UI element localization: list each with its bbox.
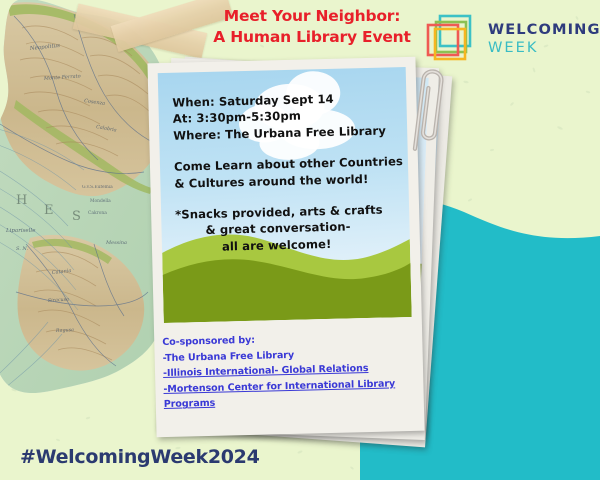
logo-word-week: WEEK (488, 41, 600, 56)
svg-text:Lipariselle: Lipariselle (5, 228, 36, 234)
sponsor-item[interactable]: -Mortenson Center for International Libr… (163, 375, 426, 413)
photo-area: When: Saturday Sept 14 At: 3:30pm-5:30pm… (158, 67, 412, 323)
headline-line-1: Meet Your Neighbor: (196, 6, 428, 27)
svg-text:G.v.S.Eufemia: G.v.S.Eufemia (82, 185, 113, 190)
photo-caption-text: When: Saturday Sept 14 At: 3:30pm-5:30pm… (172, 89, 408, 256)
svg-text:E: E (44, 203, 58, 218)
svg-text:Mondella: Mondella (90, 199, 111, 204)
svg-text:S: S (72, 209, 85, 224)
headline: Meet Your Neighbor: A Human Library Even… (196, 6, 428, 48)
hashtag: #WelcomingWeek2024 (20, 446, 260, 468)
sponsors-block: Co-sponsored by: -The Urbana Free Librar… (162, 329, 426, 413)
svg-text:Cakrona: Cakrona (88, 211, 107, 216)
headline-line-2: A Human Library Event (196, 27, 428, 48)
event-extras-block: *Snacks provided, arts & crafts & great … (175, 201, 408, 256)
welcoming-week-logo: WELCOMING WEEK (424, 10, 594, 66)
poster-canvas: Neapolitus Monte Ferrato Cosenza Calabri… (0, 0, 600, 480)
event-invite-block: Come Learn about other Countries & Cultu… (174, 153, 407, 191)
svg-text:Ragusa: Ragusa (55, 327, 74, 334)
svg-text:H: H (16, 193, 31, 208)
welcoming-week-wordmark: WELCOMING WEEK (488, 21, 600, 55)
svg-text:C: C (0, 181, 4, 196)
welcoming-week-squares-icon (424, 13, 482, 63)
polaroid-card-front: When: Saturday Sept 14 At: 3:30pm-5:30pm… (147, 57, 424, 437)
logo-word-welcoming: WELCOMING (488, 23, 600, 38)
svg-text:S. N.: S. N. (16, 246, 28, 252)
svg-text:Messina: Messina (105, 240, 127, 246)
event-details-block: When: Saturday Sept 14 At: 3:30pm-5:30pm… (172, 89, 405, 144)
